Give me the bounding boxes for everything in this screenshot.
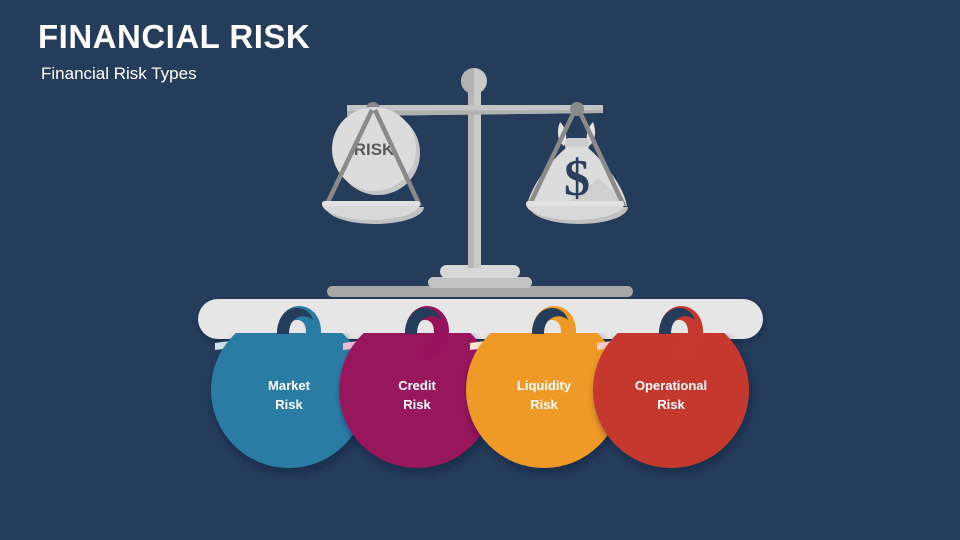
balance-scale-illustration: RISK $ [322, 68, 633, 297]
scale-pan-right-rim [526, 201, 624, 206]
infographic-svg: RISK $ [0, 0, 960, 540]
infographic: RISK $ [0, 0, 960, 540]
slide-canvas: FINANCIAL RISK Financial Risk Types [0, 0, 960, 540]
tag-body-operational-risk [593, 312, 749, 468]
scale-pan-left-rim [322, 201, 420, 206]
scale-base-middle [428, 277, 532, 288]
scale-knob-shade [461, 68, 474, 94]
money-bag-dollar-label: $ [564, 150, 590, 207]
